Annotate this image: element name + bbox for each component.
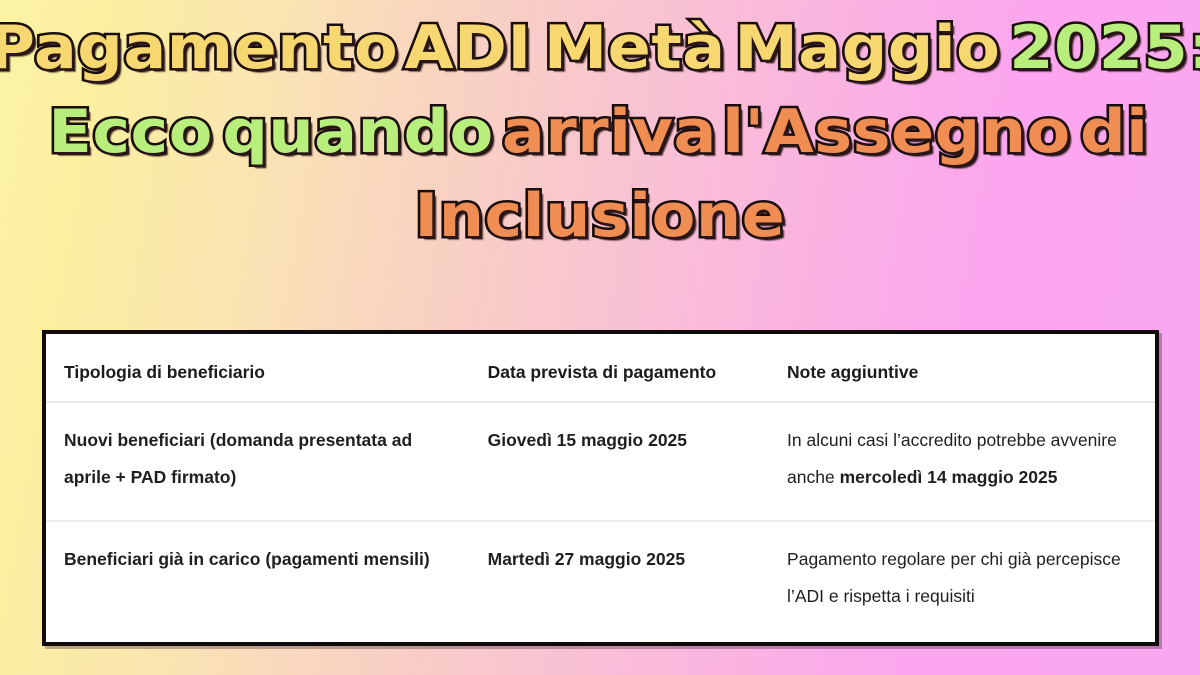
- title-word: ADI: [404, 6, 531, 90]
- cell-beneficiary-1: Nuovi beneficiari (domanda presentata ad…: [46, 402, 470, 521]
- title-word: Pagamento: [0, 6, 398, 90]
- payment-schedule-table: Tipologia di beneficiario Data prevista …: [46, 334, 1155, 639]
- cell-date-2: Martedì 27 maggio 2025: [470, 521, 769, 639]
- title-word: l'Assegno: [722, 90, 1071, 174]
- table-header-row: Tipologia di beneficiario Data prevista …: [46, 334, 1155, 402]
- title-word: di: [1080, 90, 1148, 174]
- payment-schedule-card: Tipologia di beneficiario Data prevista …: [42, 330, 1159, 646]
- note-text-2: Pagamento regolare per chi già percepisc…: [787, 549, 1121, 606]
- cell-notes-2: Pagamento regolare per chi già percepisc…: [769, 521, 1155, 639]
- title-word: arriva: [501, 90, 716, 174]
- title-word: quando: [222, 90, 493, 174]
- page-title: Pagamento ADI Metà Maggio 2025: Ecco qua…: [0, 6, 1200, 258]
- cell-beneficiary-2: Beneficiari già in carico (pagamenti men…: [46, 521, 470, 639]
- column-header-date: Data prevista di pagamento: [470, 334, 769, 402]
- table-row: Beneficiari già in carico (pagamenti men…: [46, 521, 1155, 639]
- cell-date-1: Giovedì 15 maggio 2025: [470, 402, 769, 521]
- title-word: Ecco: [49, 90, 214, 174]
- title-word: Maggio: [735, 6, 1001, 90]
- title-line-3: Inclusione: [0, 174, 1200, 258]
- title-line-1: Pagamento ADI Metà Maggio 2025:: [0, 6, 1200, 90]
- table-row: Nuovi beneficiari (domanda presentata ad…: [46, 402, 1155, 521]
- title-word: Metà: [544, 6, 726, 90]
- title-word: Inclusione: [415, 174, 786, 258]
- cell-notes-1: In alcuni casi l’accredito potrebbe avve…: [769, 402, 1155, 521]
- title-line-2: Ecco quando arriva l'Assegno di: [0, 90, 1200, 174]
- column-header-notes: Note aggiuntive: [769, 334, 1155, 402]
- note-bold-1: mercoledì 14 maggio 2025: [840, 467, 1058, 487]
- column-header-beneficiary: Tipologia di beneficiario: [46, 334, 470, 402]
- title-word: 2025:: [1009, 6, 1200, 90]
